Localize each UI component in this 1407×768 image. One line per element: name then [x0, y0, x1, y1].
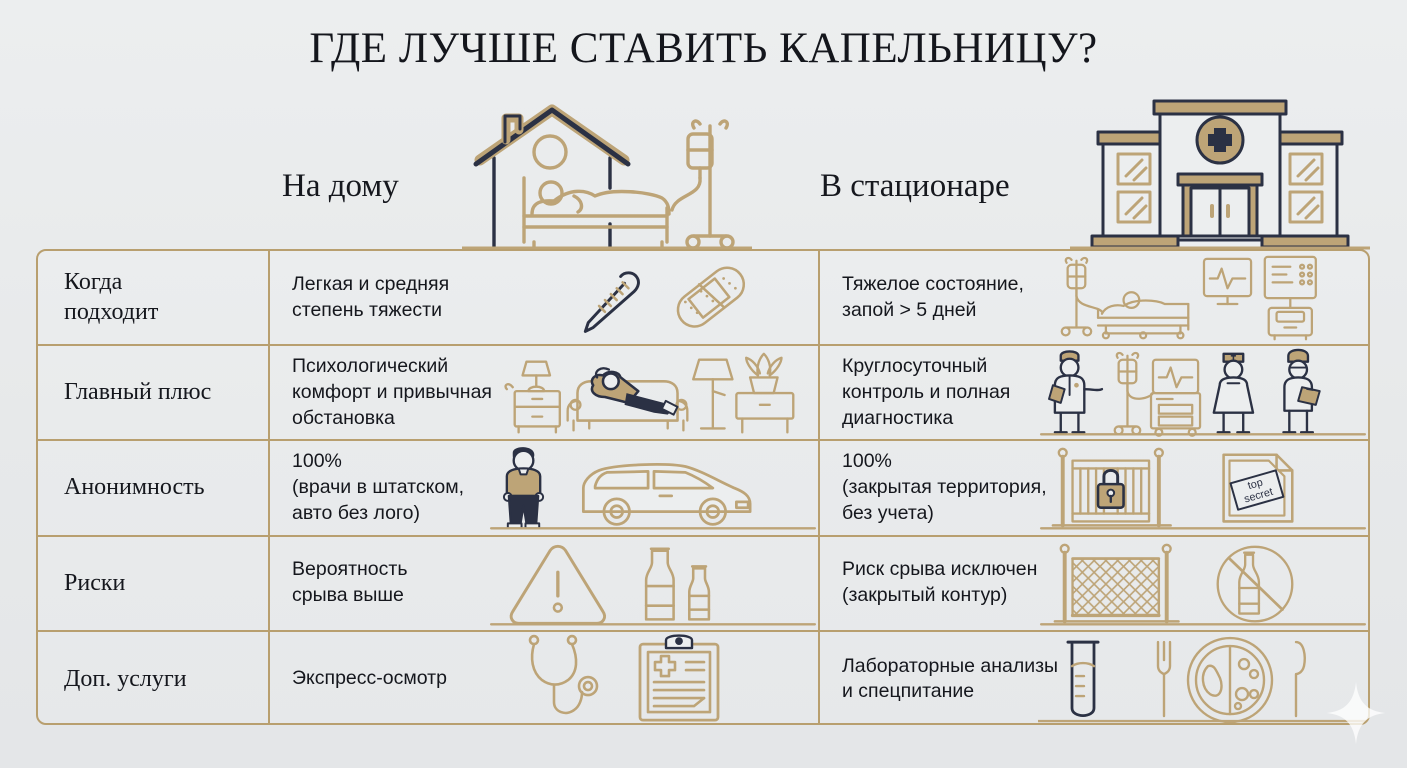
hospital-building-icon	[1092, 101, 1348, 248]
row-hospital-cell: Риск срыва исключен (закрытый контур)	[820, 537, 1368, 630]
person-on-sofa-icon	[568, 368, 688, 430]
mesh-fence-icon	[1055, 544, 1179, 621]
row-hospital-cell: Тяжелое состояние, запой > 5 дней	[820, 251, 1368, 344]
row-hospital-text: Лабораторные анализы и спецпитание	[842, 654, 1058, 705]
row-home-text: Легкая и средняя степень тяжести	[292, 272, 449, 323]
medical-cross-icon	[1197, 117, 1243, 163]
row-hospital-icons	[1038, 537, 1368, 630]
iv-stand-icon	[1115, 353, 1153, 434]
row-home-text: Психологический комфорт и привычная обст…	[292, 354, 492, 431]
row-home-icons	[488, 441, 818, 534]
row-hospital-icons	[1038, 632, 1368, 725]
table-row: Доп. услуги Экспресс-осмотр	[38, 632, 1368, 725]
table-row: Риски Вероятность срыва выше	[38, 537, 1368, 632]
unmarked-van-icon	[583, 465, 750, 525]
svg-text:secret: secret	[1243, 486, 1275, 506]
ecg-cart-icon	[1151, 360, 1200, 436]
row-hospital-cell: Лабораторные анализы и спецпитание	[820, 632, 1368, 725]
row-home-cell: Экспресс-осмотр	[270, 632, 820, 725]
infusion-pump-icon	[1269, 298, 1312, 339]
row-label: Главный плюс	[38, 346, 270, 439]
side-table-icon	[736, 393, 793, 432]
row-home-icons	[488, 346, 818, 439]
nurse-icon	[1214, 354, 1253, 432]
medical-clipboard-icon	[640, 635, 718, 720]
row-home-cell: 100% (врачи в штатском, авто без лого)	[270, 441, 820, 534]
table-row: Главный плюс Психологический комфорт и п…	[38, 346, 1368, 441]
ecg-monitor-icon	[1204, 259, 1251, 304]
floor-lamp-icon	[693, 360, 732, 429]
row-label: Анонимность	[38, 441, 270, 534]
row-hospital-text: Тяжелое состояние, запой > 5 дней	[842, 272, 1024, 323]
table-row: Когда подходит Легкая и средняя степень …	[38, 251, 1368, 346]
vitals-monitor-icon	[1265, 257, 1316, 298]
row-hospital-cell: 100% (закрытая территория, без учета)	[820, 441, 1368, 534]
row-home-text: Экспресс-осмотр	[292, 666, 447, 692]
row-label: Доп. услуги	[38, 632, 270, 725]
row-home-text: Вероятность срыва выше	[292, 557, 408, 608]
row-home-text: 100% (врачи в штатском, авто без лого)	[292, 449, 464, 526]
row-hospital-text: Риск срыва исключен (закрытый контур)	[842, 557, 1037, 608]
meal-plate-icon	[1158, 638, 1305, 722]
stethoscope-icon	[530, 636, 597, 713]
locked-gate-icon	[1053, 449, 1171, 526]
row-hospital-icons	[1038, 251, 1368, 344]
iv-drip-stand-icon	[672, 121, 733, 248]
column-header-hospital: В стационаре	[820, 168, 1010, 205]
row-hospital-text: 100% (закрытая территория, без учета)	[842, 449, 1047, 526]
table-row: Анонимность 100% (врачи в штатском, авто…	[38, 441, 1368, 536]
row-label: Когда подходит	[38, 251, 270, 344]
row-hospital-cell: Круглосуточный контроль и полная диагнос…	[820, 346, 1368, 439]
nightstand-lamp-icon	[506, 362, 560, 433]
infographic-page: ГДЕ ЛУЧШЕ СТАВИТЬ КАПЕЛЬНИЦУ? На дому В …	[0, 0, 1407, 768]
watermark-diamond	[1327, 682, 1385, 744]
comparison-table: Когда подходит Легкая и средняя степень …	[36, 249, 1370, 725]
warning-triangle-icon	[511, 546, 604, 623]
row-home-cell: Легкая и средняя степень тяжести	[270, 251, 820, 344]
patient-icon	[1283, 350, 1319, 432]
thermometer-icon	[585, 273, 638, 332]
svg-text:top: top	[1246, 477, 1264, 493]
row-home-icons	[488, 632, 818, 725]
row-home-cell: Вероятность срыва выше	[270, 537, 820, 630]
row-home-icons	[488, 537, 818, 630]
row-home-icons	[488, 251, 818, 344]
potted-plant-icon	[746, 354, 781, 393]
no-alcohol-icon	[1218, 546, 1293, 621]
row-hospital-icons	[1038, 346, 1368, 439]
page-title: ГДЕ ЛУЧШЕ СТАВИТЬ КАПЕЛЬНИЦУ?	[0, 24, 1407, 73]
test-tube-icon	[1068, 642, 1098, 716]
bandage-icon	[671, 261, 750, 333]
lock-icon	[1098, 471, 1124, 508]
header-art-home	[462, 96, 752, 252]
patient-in-bed-icon	[524, 178, 669, 248]
doctor-icon	[1049, 352, 1102, 433]
person-plain-clothes-icon	[504, 447, 543, 528]
row-hospital-text: Круглосуточный контроль и полная диагнос…	[842, 354, 1010, 431]
column-header-home: На дому	[282, 168, 399, 205]
row-label: Риски	[38, 537, 270, 630]
top-secret-document-icon: top secret	[1224, 455, 1293, 522]
row-home-cell: Психологический комфорт и привычная обст…	[270, 346, 820, 439]
hospital-bed-iv-icon	[1062, 258, 1189, 338]
bottles-icon	[646, 548, 709, 619]
header-art-hospital	[1070, 96, 1370, 252]
row-hospital-icons: top secret	[1038, 441, 1368, 534]
